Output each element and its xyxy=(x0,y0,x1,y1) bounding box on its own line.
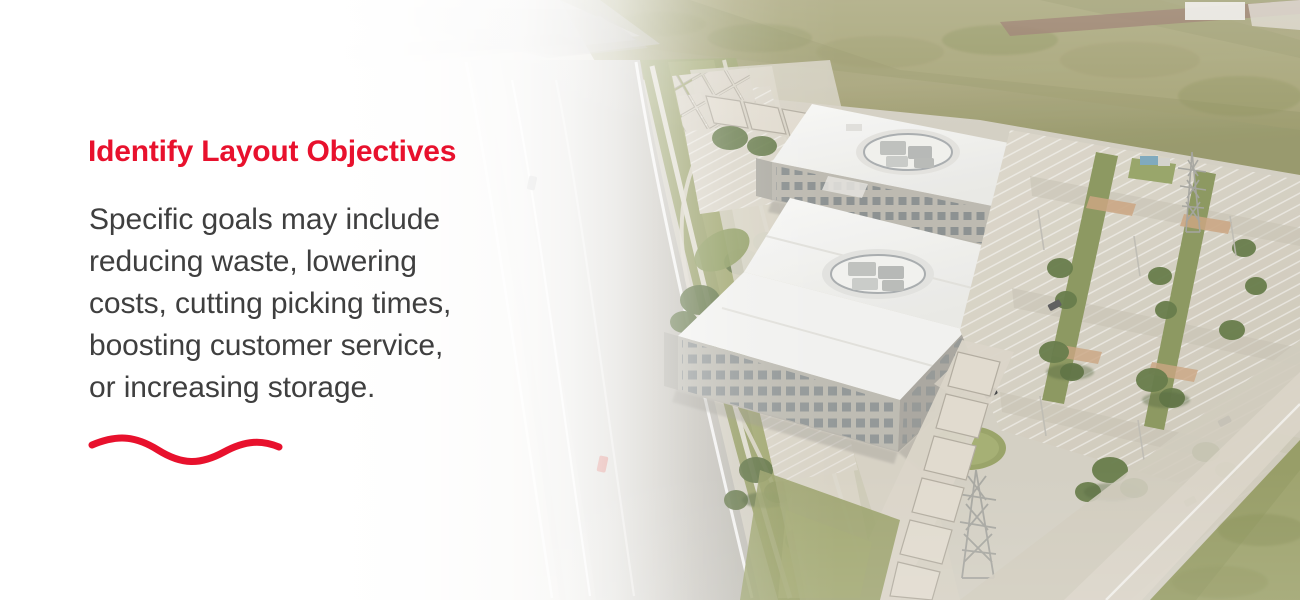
body-line-5: or increasing storage. xyxy=(89,367,541,409)
wave-divider-icon xyxy=(88,432,283,470)
body-line-1: Specific goals may include xyxy=(89,199,541,241)
body-line-2: reducing waste, lowering xyxy=(89,241,541,283)
page-title: Identify Layout Objectives xyxy=(88,134,456,170)
text-content-block: Identify Layout Objectives Specific goal… xyxy=(88,0,558,600)
layout-objectives-banner: Identify Layout Objectives Specific goal… xyxy=(0,0,1300,600)
wave-stroke xyxy=(92,438,279,461)
body-line-4: boosting customer service, xyxy=(89,325,541,367)
wave-divider xyxy=(88,432,283,470)
body-copy: Specific goals may include reducing wast… xyxy=(89,199,541,409)
body-line-3: costs, cutting picking times, xyxy=(89,283,541,325)
